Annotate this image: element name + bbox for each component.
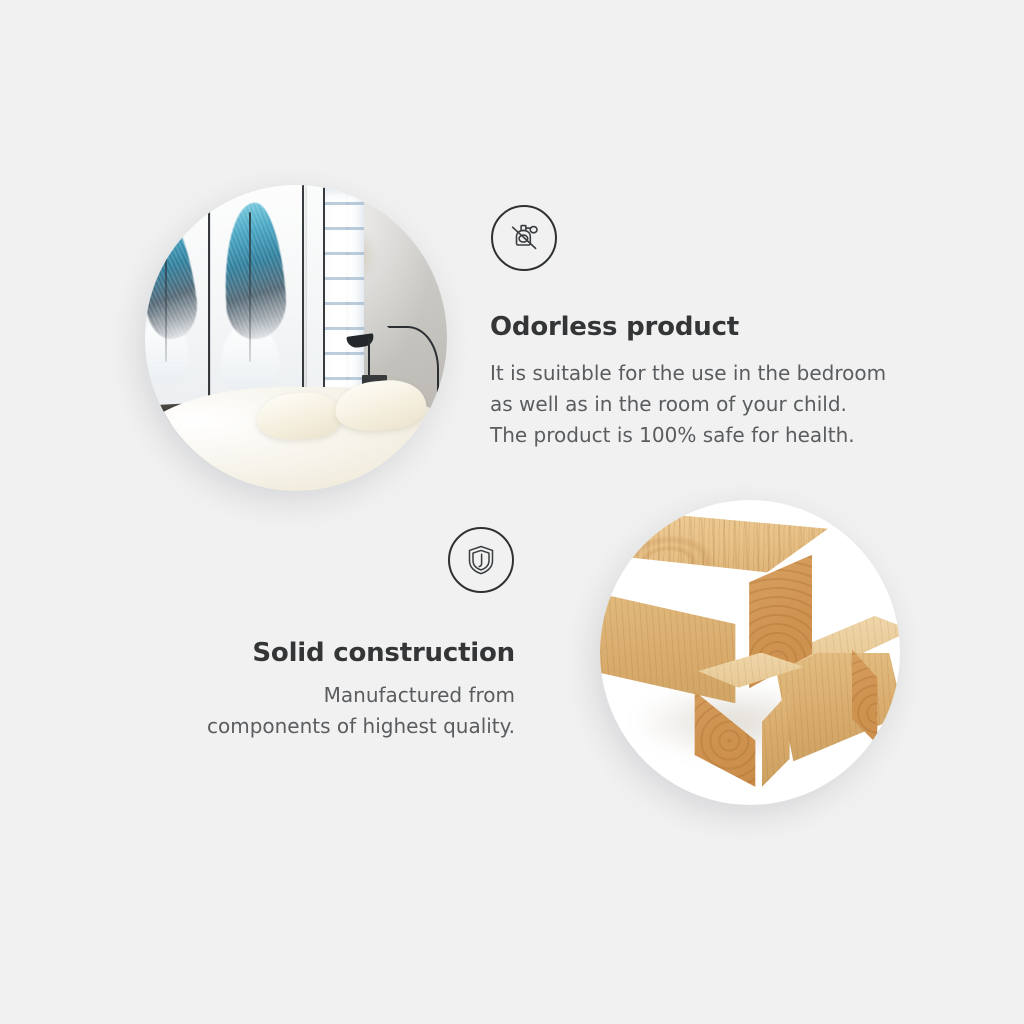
feature-title: Solid construction [95, 638, 515, 668]
feature-body: It is suitable for the use in the bedroo… [490, 358, 930, 451]
artwork-panel-3 [307, 185, 324, 411]
feature-odorless: Odorless product It is suitable for the … [490, 205, 930, 451]
feather-shaft-1 [165, 221, 167, 361]
artwork-panel-1 [145, 185, 208, 411]
bedroom-feather-artwork-photo [145, 185, 447, 491]
shield-icon [448, 527, 514, 593]
no-perfume-icon [491, 205, 557, 271]
artwork-panel-2 [211, 185, 302, 411]
feature-solid-construction: Solid construction Manufactured from com… [95, 527, 515, 742]
feature-body-line: It is suitable for the use in the bedroo… [490, 361, 886, 385]
feature-body-line: as well as in the room of your child. [490, 392, 847, 416]
feature-body-line: Manufactured from [324, 683, 515, 707]
teal-feather-1 [145, 209, 201, 342]
feature-title: Odorless product [490, 312, 930, 342]
teal-feather-2 [219, 201, 288, 341]
feature-body-line: components of highest quality. [207, 714, 515, 738]
bedroom-scene [145, 185, 447, 491]
infographic-canvas: Odorless product It is suitable for the … [0, 0, 1024, 1024]
feature-body: Manufactured from components of highest … [95, 680, 515, 742]
wood-scene [600, 500, 900, 805]
wooden-beams-photo [600, 500, 900, 805]
feature-body-line: The product is 100% safe for health. [490, 423, 855, 447]
